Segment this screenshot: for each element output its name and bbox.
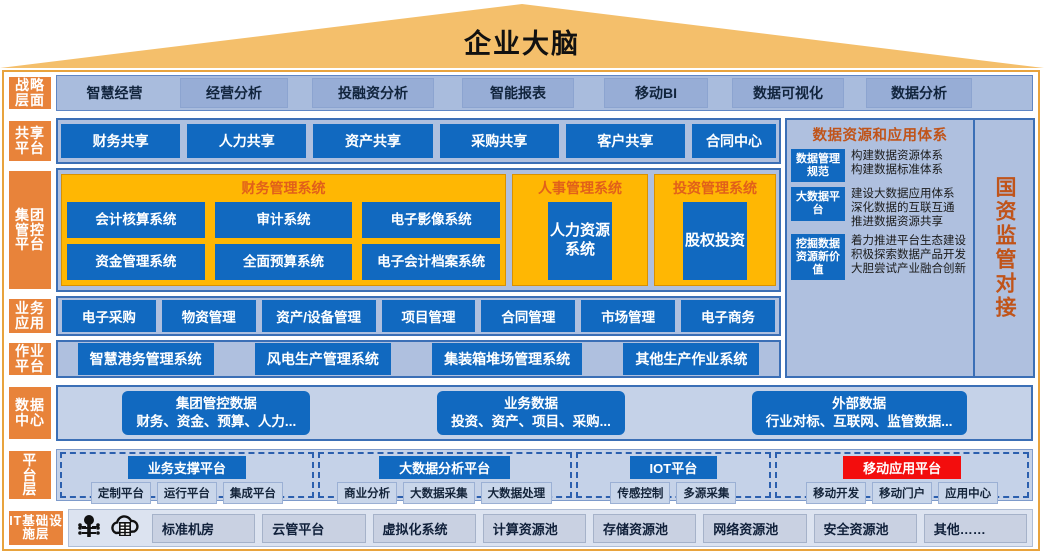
infrastructure-item-4[interactable]: 存储资源池: [593, 514, 696, 543]
governance-connection-label: 国资监管对接: [992, 176, 1016, 320]
group-control-cards: 财务管理系统 会计核算系统 审计系统 电子影像系统 资金管理系统 全面预算系统 …: [56, 168, 781, 292]
data-center-item-1[interactable]: 业务数据 投资、资产、项目、采购...: [437, 391, 625, 435]
data-resource-title: 数据资源和应用体系: [791, 124, 969, 145]
hr-management-system-card: 人事管理系统 人力资源系统: [512, 174, 648, 286]
platform-group-1-head[interactable]: 大数据分析平台: [379, 456, 510, 479]
hr-subsystem[interactable]: 人力资源系统: [548, 202, 612, 280]
platform-group-0-sub-2[interactable]: 集成平台: [223, 482, 283, 504]
infrastructure-icon-group: [74, 513, 141, 543]
network-topology-icon: [74, 513, 104, 543]
data-resource-line-0-0: 构建数据资源体系: [851, 149, 969, 163]
share-item-1[interactable]: 人力共享: [187, 124, 306, 158]
layer-label-ops-platform: 作业平台: [7, 341, 53, 377]
business-app-item-1[interactable]: 物资管理: [162, 300, 256, 332]
data-center-item-2-sub: 行业对标、互联网、监管数据...: [766, 413, 953, 431]
layer-label-ops-platform-text: 作业平台: [15, 344, 45, 373]
platform-group-2-sub-1[interactable]: 多源采集: [676, 482, 736, 504]
share-item-5[interactable]: 合同中心: [692, 124, 776, 158]
layer-label-infrastructure: IT基础设施层: [7, 509, 65, 547]
platform-group-business-support: 业务支撑平台 定制平台 运行平台 集成平台: [60, 452, 314, 498]
strategy-item-5[interactable]: 数据可视化: [732, 78, 844, 108]
finance-subsystem-2[interactable]: 电子影像系统: [362, 202, 500, 238]
infrastructure-layer-row: IT基础设施层: [4, 506, 1036, 550]
platform-group-0-sub-0[interactable]: 定制平台: [91, 482, 151, 504]
finance-card-title: 财务管理系统: [242, 178, 326, 198]
platform-layer-groups: 业务支撑平台 定制平台 运行平台 集成平台 大数据分析平台 商业分析 大数据采集…: [56, 449, 1033, 501]
finance-subsystem-3[interactable]: 资金管理系统: [67, 244, 205, 280]
platform-group-3-head[interactable]: 移动应用平台: [843, 456, 961, 479]
governance-connection-panel: 国资监管对接: [975, 120, 1033, 376]
strategy-item-4[interactable]: 移动BI: [604, 78, 708, 108]
data-center-item-0-title: 集团管控数据: [136, 396, 296, 413]
data-resource-line-0-1: 构建数据标准体系: [851, 163, 969, 177]
group-control-platform-row: 集团管控平台 财务管理系统 会计核算系统 审计系统 电子影像系统 资金管理系统 …: [4, 166, 783, 294]
business-app-item-5[interactable]: 市场管理: [581, 300, 675, 332]
middle-left-column: 共享平台 财务共享 人力共享 资产共享 采购共享 客户共享 合同中心 集团管控平…: [4, 116, 783, 380]
platform-group-3-sub-2[interactable]: 应用中心: [938, 482, 998, 504]
infrastructure-item-7[interactable]: 其他……: [924, 514, 1027, 543]
operation-platform-row: 作业平台 智慧港务管理系统 风电生产管理系统 集装箱堆场管理系统 其他生产作业系…: [4, 338, 783, 380]
infrastructure-item-5[interactable]: 网络资源池: [703, 514, 806, 543]
business-app-item-0[interactable]: 电子采购: [62, 300, 156, 332]
platform-group-3-subs: 移动开发 移动门户 应用中心: [781, 482, 1023, 504]
layer-label-platform: 平台层: [7, 449, 53, 501]
ops-item-3[interactable]: 其他生产作业系统: [623, 343, 759, 375]
finance-subsystem-1[interactable]: 审计系统: [215, 202, 353, 238]
finance-subsystem-4[interactable]: 全面预算系统: [215, 244, 353, 280]
data-resource-line-1-1: 深化数据的互联互通: [851, 201, 969, 215]
platform-group-0-subs: 定制平台 运行平台 集成平台: [66, 482, 308, 504]
cloud-server-icon: [109, 513, 141, 543]
right-column-block: 数据资源和应用体系 数据管理规范 构建数据资源体系 构建数据标准体系 大数据平台…: [785, 118, 1035, 378]
finance-management-system-card: 财务管理系统 会计核算系统 审计系统 电子影像系统 资金管理系统 全面预算系统 …: [61, 174, 506, 286]
share-item-0[interactable]: 财务共享: [61, 124, 180, 158]
data-resource-tag-0[interactable]: 数据管理规范: [791, 149, 845, 182]
platform-group-2-head[interactable]: IOT平台: [630, 456, 718, 479]
platform-group-3-sub-1[interactable]: 移动门户: [872, 482, 932, 504]
business-app-item-3[interactable]: 项目管理: [382, 300, 476, 332]
infrastructure-item-0[interactable]: 标准机房: [152, 514, 255, 543]
strategy-layer-row: 战略层面 智慧经营 经营分析 投融资分析 智能报表 移动BI 数据可视化 数据分…: [4, 72, 1036, 114]
data-resource-line-2-1: 积极探索数据产品开发: [851, 248, 969, 262]
strategy-items-band: 智慧经营 经营分析 投融资分析 智能报表 移动BI 数据可视化 数据分析: [56, 75, 1033, 111]
data-center-item-2-title: 外部数据: [766, 396, 953, 413]
platform-group-big-data: 大数据分析平台 商业分析 大数据采集 大数据处理: [318, 452, 572, 498]
data-resource-row-2: 挖掘数据资源新价值 着力推进平台生态建设 积极探索数据产品开发 大胆尝试产业融合…: [791, 234, 969, 280]
share-item-3[interactable]: 采购共享: [440, 124, 559, 158]
finance-subsystem-5[interactable]: 电子会计档案系统: [362, 244, 500, 280]
ops-item-0[interactable]: 智慧港务管理系统: [78, 343, 214, 375]
roof-banner: 企业大脑: [0, 0, 1044, 72]
data-resource-line-2-0: 着力推进平台生态建设: [851, 234, 969, 248]
data-resource-text-0: 构建数据资源体系 构建数据标准体系: [851, 149, 969, 177]
data-resource-row-0: 数据管理规范 构建数据资源体系 构建数据标准体系: [791, 149, 969, 182]
layer-label-platform-text: 平台层: [23, 453, 38, 497]
data-center-item-0[interactable]: 集团管控数据 财务、资金、预算、人力...: [122, 391, 310, 435]
ops-item-1[interactable]: 风电生产管理系统: [255, 343, 391, 375]
data-resource-text-2: 着力推进平台生态建设 积极探索数据产品开发 大胆尝试产业融合创新: [851, 234, 969, 276]
platform-group-1-subs: 商业分析 大数据采集 大数据处理: [324, 482, 566, 504]
infrastructure-item-1[interactable]: 云管平台: [262, 514, 365, 543]
strategy-item-0[interactable]: 智慧经营: [57, 79, 172, 107]
layer-label-group-platform-text: 集团管控平台: [15, 208, 45, 252]
platform-group-3-sub-0[interactable]: 移动开发: [806, 482, 866, 504]
investment-subsystem[interactable]: 股权投资: [683, 202, 747, 280]
platform-layer-row: 平台层 业务支撑平台 定制平台 运行平台 集成平台 大数据分析平台 商业分析 大…: [4, 446, 1036, 504]
business-application-items: 电子采购 物资管理 资产/设备管理 项目管理 合同管理 市场管理 电子商务: [56, 296, 781, 336]
platform-group-1-sub-1[interactable]: 大数据采集: [403, 482, 475, 504]
page-title: 企业大脑: [0, 22, 1044, 61]
layer-label-strategy: 战略层面: [7, 75, 53, 111]
layer-label-group-platform: 集团管控平台: [7, 169, 53, 291]
share-item-2[interactable]: 资产共享: [313, 124, 432, 158]
data-resource-text-1: 建设大数据应用体系 深化数据的互联互通 推进数据资源共享: [851, 187, 969, 229]
strategy-item-6[interactable]: 数据分析: [866, 78, 972, 108]
infrastructure-items: 标准机房 云管平台 虚拟化系统 计算资源池 存储资源池 网络资源池 安全资源池 …: [68, 509, 1033, 547]
infrastructure-item-2[interactable]: 虚拟化系统: [373, 514, 476, 543]
data-center-item-1-title: 业务数据: [451, 396, 611, 413]
investment-management-system-card: 投资管理系统 股权投资: [654, 174, 776, 286]
platform-group-iot: IOT平台 传感控制 多源采集: [576, 452, 772, 498]
platform-group-1-sub-0[interactable]: 商业分析: [337, 482, 397, 504]
ops-item-2[interactable]: 集装箱堆场管理系统: [432, 343, 582, 375]
data-center-items: 集团管控数据 财务、资金、预算、人力... 业务数据 投资、资产、项目、采购..…: [56, 385, 1033, 441]
strategy-item-1[interactable]: 经营分析: [180, 78, 288, 108]
data-resource-system-panel: 数据资源和应用体系 数据管理规范 构建数据资源体系 构建数据标准体系 大数据平台…: [787, 120, 975, 376]
data-resource-row-1: 大数据平台 建设大数据应用体系 深化数据的互联互通 推进数据资源共享: [791, 187, 969, 229]
strategy-item-2[interactable]: 投融资分析: [312, 78, 434, 108]
data-resource-line-2-2: 大胆尝试产业融合创新: [851, 262, 969, 276]
data-resource-line-1-0: 建设大数据应用体系: [851, 187, 969, 201]
platform-group-2-sub-0[interactable]: 传感控制: [610, 482, 670, 504]
business-app-item-4[interactable]: 合同管理: [481, 300, 575, 332]
middle-layers-block: 共享平台 财务共享 人力共享 资产共享 采购共享 客户共享 合同中心 集团管控平…: [4, 116, 1036, 380]
data-center-item-0-sub: 财务、资金、预算、人力...: [136, 413, 296, 431]
data-resource-tag-1[interactable]: 大数据平台: [791, 187, 845, 220]
infrastructure-item-3[interactable]: 计算资源池: [483, 514, 586, 543]
layer-label-data-center-text: 数据中心: [15, 398, 45, 427]
operation-platform-items: 智慧港务管理系统 风电生产管理系统 集装箱堆场管理系统 其他生产作业系统: [56, 340, 781, 378]
layer-label-strategy-text: 战略层面: [15, 78, 45, 107]
platform-group-2-subs: 传感控制 多源采集: [582, 482, 766, 504]
data-center-row: 数据中心 集团管控数据 财务、资金、预算、人力... 业务数据 投资、资产、项目…: [4, 382, 1036, 444]
data-resource-line-1-2: 推进数据资源共享: [851, 215, 969, 229]
infrastructure-item-6[interactable]: 安全资源池: [814, 514, 917, 543]
data-resource-tag-2[interactable]: 挖掘数据资源新价值: [791, 234, 845, 280]
strategy-item-3[interactable]: 智能报表: [462, 78, 574, 108]
business-app-item-2[interactable]: 资产/设备管理: [262, 300, 376, 332]
share-platform-items: 财务共享 人力共享 资产共享 采购共享 客户共享 合同中心: [56, 118, 781, 164]
business-app-item-6[interactable]: 电子商务: [681, 300, 775, 332]
hr-card-title: 人事管理系统: [538, 178, 622, 198]
platform-group-mobile-app: 移动应用平台 移动开发 移动门户 应用中心: [775, 452, 1029, 498]
layer-label-share-platform-text: 共享平台: [15, 126, 45, 155]
share-platform-row: 共享平台 财务共享 人力共享 资产共享 采购共享 客户共享 合同中心: [4, 116, 783, 166]
investment-card-title: 投资管理系统: [673, 178, 757, 198]
share-item-4[interactable]: 客户共享: [566, 124, 685, 158]
data-center-item-1-sub: 投资、资产、项目、采购...: [451, 413, 611, 431]
platform-group-0-sub-1[interactable]: 运行平台: [157, 482, 217, 504]
data-center-item-2[interactable]: 外部数据 行业对标、互联网、监管数据...: [752, 391, 967, 435]
layer-label-data-center: 数据中心: [7, 385, 53, 441]
finance-subsystem-0[interactable]: 会计核算系统: [67, 202, 205, 238]
business-application-row: 业务应用 电子采购 物资管理 资产/设备管理 项目管理 合同管理 市场管理 电子…: [4, 294, 783, 338]
layer-label-business-app-text: 业务应用: [15, 301, 45, 330]
layer-label-business-app: 业务应用: [7, 297, 53, 335]
finance-subsystem-grid: 会计核算系统 审计系统 电子影像系统 资金管理系统 全面预算系统 电子会计档案系…: [67, 202, 500, 280]
layer-label-share-platform: 共享平台: [7, 119, 53, 163]
platform-group-1-sub-2[interactable]: 大数据处理: [481, 482, 553, 504]
layer-label-infrastructure-text: IT基础设施层: [9, 515, 63, 541]
platform-group-0-head[interactable]: 业务支撑平台: [128, 456, 246, 479]
